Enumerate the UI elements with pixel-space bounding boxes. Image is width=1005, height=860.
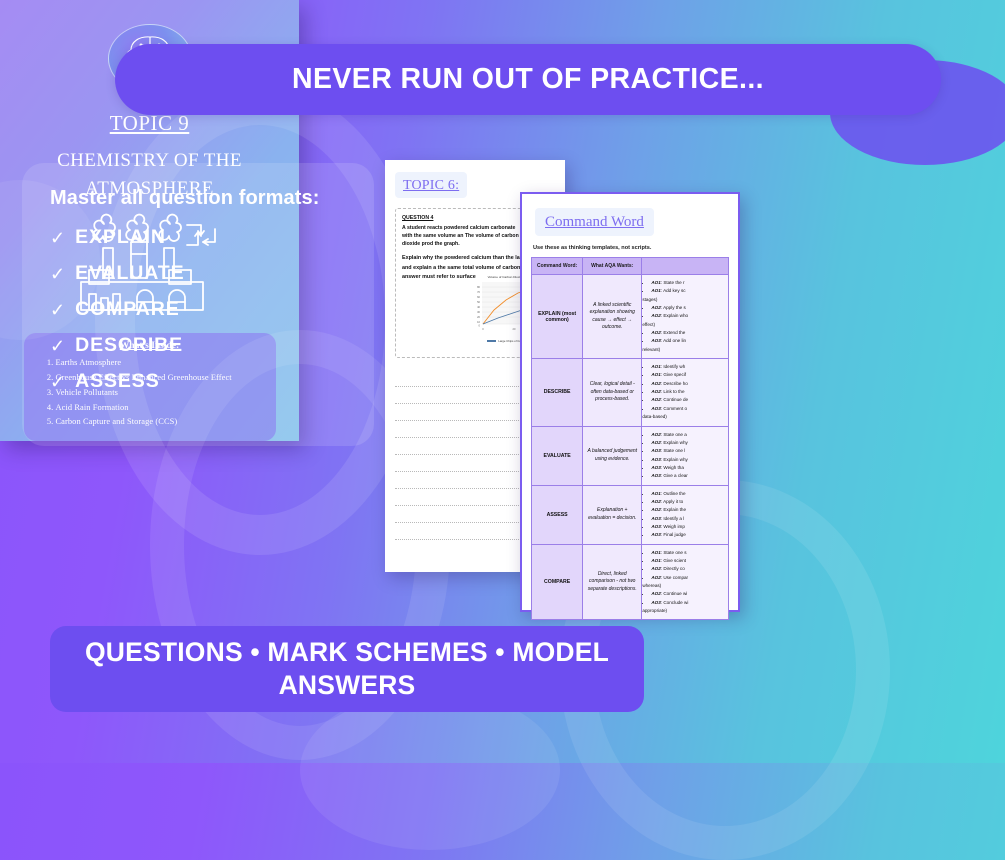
aos-list: AO1: Outline the AO2: Apply it to AO2: E… — [651, 490, 725, 539]
svg-text:10: 10 — [477, 320, 480, 324]
aos-list: AO2: State one a AO2: Explain why AO3: S… — [651, 431, 725, 480]
aos-item: AO3: Identify a l — [651, 515, 725, 522]
top-banner: NEVER RUN OUT OF PRACTICE... — [115, 44, 941, 115]
cell-aos: AO1: State the r AO1: Add key sc stages)… — [642, 275, 729, 359]
svg-text:60: 60 — [477, 295, 480, 299]
feature-item-evaluate: ✓ EVALUATE — [50, 262, 346, 285]
cell-aos: AO1: Outline the AO2: Apply it to AO2: E… — [642, 485, 729, 544]
svg-text:80: 80 — [477, 285, 480, 289]
table-header-row: Command Word: What AQA Wants: — [532, 258, 729, 275]
cell-wants: A balanced judgement using evidence. — [583, 426, 642, 485]
aos-item: AO3: Final judge — [651, 531, 725, 538]
aos-item: AO1: State the r — [651, 279, 725, 286]
aos-item: AO3: Weigh imp — [651, 523, 725, 530]
check-icon: ✓ — [50, 301, 65, 319]
aos-item: relevant) — [642, 346, 725, 353]
aos-item: AO1: Add key sc — [651, 287, 725, 294]
aos-item: AO2: Apply the s — [651, 304, 725, 311]
feature-label: EVALUATE — [75, 262, 184, 285]
cell-aos: AO2: State one a AO2: Explain why AO3: S… — [642, 426, 729, 485]
aos-item: AO3: State one l — [651, 447, 725, 454]
aos-item: AO1: Give scient — [651, 557, 725, 564]
aos-item: AO3: Explain why — [651, 456, 725, 463]
aos-item: whereas) — [642, 582, 725, 589]
aos-item: AO2: Explain why — [651, 439, 725, 446]
aos-item: stages) — [642, 296, 725, 303]
aos-item: appropriate) — [642, 607, 725, 614]
table-row: DESCRIBE Clear, logical detail - often d… — [532, 359, 729, 426]
aos-item: AO2: Apply it to — [651, 498, 725, 505]
aos-item: AO1: Identify wh — [651, 363, 725, 370]
check-icon: ✓ — [50, 337, 65, 355]
topic9-title: TOPIC 9 — [110, 111, 190, 136]
table-row: ASSESS Explanation + evaluation = decisi… — [532, 485, 729, 544]
top-banner-text: NEVER RUN OUT OF PRACTICE... — [292, 63, 764, 96]
cell-aos: AO1: Identify wh AO1: Give specif AO2: D… — [642, 359, 729, 426]
aos-item: AO1: Outline the — [651, 490, 725, 497]
table-row: EXPLAIN (most common) A linked scientifi… — [532, 275, 729, 359]
aos-item: AO2: Continue de — [651, 396, 725, 403]
aos-item: effect) — [642, 321, 725, 328]
document-command-words: Command Word Use these as thinking templ… — [520, 192, 740, 612]
aos-item: AO2: Use compar — [651, 574, 725, 581]
feature-item-compare: ✓ COMPARE — [50, 298, 346, 321]
table-row: EVALUATE A balanced judgement using evid… — [532, 426, 729, 485]
cell-wants: A linked scientific explanation showing … — [583, 275, 642, 359]
command-words-table: Command Word: What AQA Wants: EXPLAIN (m… — [531, 257, 729, 620]
topic6-title-band: TOPIC 6: — [395, 172, 467, 198]
aos-item: data-based) — [642, 413, 725, 420]
cell-command: DESCRIBE — [532, 359, 583, 426]
svg-text:30: 30 — [477, 310, 480, 314]
cell-command: EXPLAIN (most common) — [532, 275, 583, 359]
cell-command: ASSESS — [532, 485, 583, 544]
table-row: COMPARE Direct, linked comparison - not … — [532, 544, 729, 620]
aos-list: AO1: State one s AO1: Give scient AO2: D… — [651, 549, 725, 615]
cell-wants: Direct, linked comparison - not two sepa… — [583, 544, 642, 620]
aos-item: AO3: Weigh tha — [651, 464, 725, 471]
check-icon: ✓ — [50, 373, 65, 391]
svg-text:0: 0 — [482, 327, 484, 331]
aos-item: AO2: Link to the — [651, 388, 725, 395]
aos-item: AO2: Extend the — [651, 329, 725, 336]
feature-item-assess: ✓ ASSESS — [50, 370, 346, 393]
command-words-inner: Command Word Use these as thinking templ… — [522, 194, 738, 630]
feature-label: COMPARE — [75, 298, 180, 321]
table-body: EXPLAIN (most common) A linked scientifi… — [532, 275, 729, 620]
bottom-banner-text: QUESTIONS • MARK SCHEMES • MODEL ANSWERS — [76, 636, 618, 702]
svg-text:70: 70 — [477, 290, 480, 294]
feature-item-explain: ✓ EXPLAIN — [50, 226, 346, 249]
deco-blob-bottom — [300, 690, 560, 850]
feature-label: ASSESS — [75, 370, 160, 393]
command-words-title-band: Command Word — [535, 208, 654, 236]
command-words-subtitle: Use these as thinking templates, not scr… — [533, 245, 729, 251]
topic6-question-text: A student reacts powdered calcium carbon… — [402, 224, 520, 248]
feature-label: EXPLAIN — [75, 226, 166, 249]
cell-wants: Explanation + evaluation = decision. — [583, 485, 642, 544]
aos-item: AO2: Describe ho — [651, 380, 725, 387]
svg-text:40: 40 — [477, 305, 480, 309]
cell-wants: Clear, logical detail - often data-based… — [583, 359, 642, 426]
bottom-banner: QUESTIONS • MARK SCHEMES • MODEL ANSWERS — [50, 626, 644, 712]
svg-text:50: 50 — [477, 300, 480, 304]
aos-item: AO2: Explain who — [651, 312, 725, 319]
svg-text:20: 20 — [477, 315, 480, 319]
cell-command: EVALUATE — [532, 426, 583, 485]
aos-item: AO2: State one a — [651, 431, 725, 438]
aos-list: AO1: Identify wh AO1: Give specif AO2: D… — [651, 363, 725, 420]
check-icon: ✓ — [50, 265, 65, 283]
svg-text:0: 0 — [479, 324, 481, 328]
aos-item: AO2: Explain the — [651, 506, 725, 513]
column-header-command: Command Word: — [532, 258, 583, 275]
features-title: Master all question formats: — [50, 187, 346, 210]
column-header-wants: What AQA Wants: — [583, 258, 642, 275]
cell-command: COMPARE — [532, 544, 583, 620]
aos-item: AO3: Give a clear — [651, 472, 725, 479]
command-words-title: Command Word — [545, 214, 644, 230]
aos-item: AO2: Continue wi — [651, 590, 725, 597]
aos-list: AO1: State the r AO1: Add key sc stages)… — [651, 279, 725, 353]
aos-item: AO3: Add one lin — [651, 337, 725, 344]
feature-item-describe: ✓ DESCRIBE — [50, 334, 346, 357]
svg-text:20: 20 — [513, 327, 516, 331]
feature-label: DESCRIBE — [75, 334, 183, 357]
column-header-aos — [642, 258, 729, 275]
aos-item: AO1: Give specif — [651, 371, 725, 378]
aos-item: AO3: Comment o — [651, 405, 725, 412]
aos-item: AO3: Conclude wi — [651, 599, 725, 606]
topic6-title: TOPIC 6: — [403, 178, 459, 193]
aos-item: AO1: State one s — [651, 549, 725, 556]
features-card: Master all question formats: ✓ EXPLAIN ✓… — [22, 163, 374, 446]
check-icon: ✓ — [50, 229, 65, 247]
cell-aos: AO1: State one s AO1: Give scient AO2: D… — [642, 544, 729, 620]
aos-item: AO2: Directly co — [651, 565, 725, 572]
legend-swatch-icon — [487, 340, 496, 341]
